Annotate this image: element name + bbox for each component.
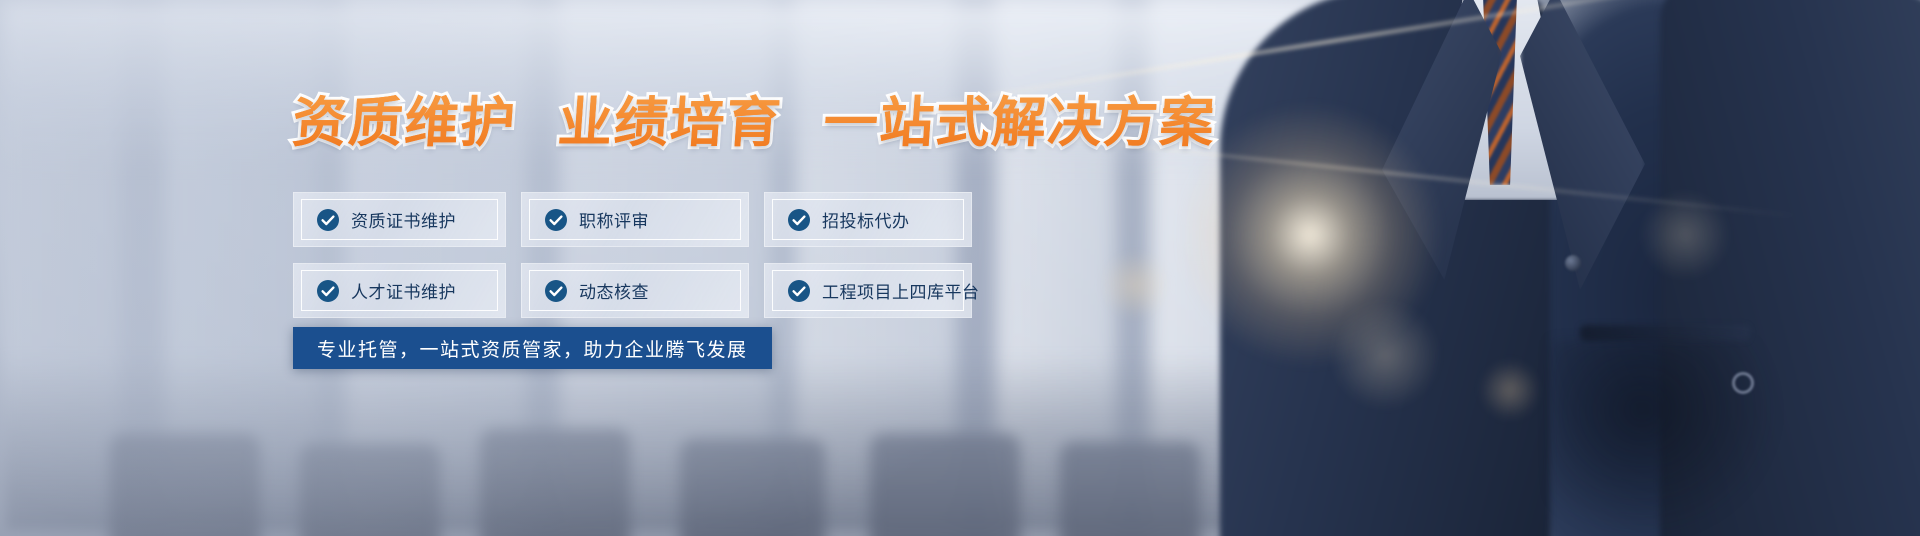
promo-banner: 资质维护 业绩培育 一站式解决方案 资质维护 业绩培育 一站式解决方案 资质证书… (0, 0, 1920, 536)
feature-card-qualification-certificate-maintenance[interactable]: 资质证书维护 (293, 192, 506, 247)
check-circle-icon (316, 279, 340, 303)
check-circle-icon (316, 208, 340, 232)
feature-card-title-evaluation[interactable]: 职称评审 (521, 192, 749, 247)
feature-card-dynamic-verification[interactable]: 动态核查 (521, 263, 749, 318)
check-circle-icon (544, 279, 568, 303)
feature-label: 动态核查 (579, 278, 649, 303)
feature-label: 人才证书维护 (351, 278, 456, 303)
banner-content: 资质维护 业绩培育 一站式解决方案 资质维护 业绩培育 一站式解决方案 资质证书… (0, 0, 1920, 536)
feature-label: 工程项目上四库平台 (822, 278, 980, 303)
check-circle-icon (544, 208, 568, 232)
feature-card-project-four-database-platform[interactable]: 工程项目上四库平台 (764, 263, 972, 318)
feature-card-talent-certificate-maintenance[interactable]: 人才证书维护 (293, 263, 506, 318)
page-title: 资质维护 业绩培育 一站式解决方案 (290, 78, 1219, 157)
check-circle-icon (787, 279, 811, 303)
feature-label: 招投标代办 (822, 207, 910, 232)
feature-label: 资质证书维护 (351, 207, 456, 232)
feature-label: 职称评审 (579, 207, 649, 232)
feature-grid: 资质证书维护 职称评审 (293, 192, 972, 318)
tagline-text: 专业托管，一站式资质管家，助力企业腾飞发展 (317, 335, 748, 362)
feature-card-bidding-agency[interactable]: 招投标代办 (764, 192, 972, 247)
check-circle-icon (787, 208, 811, 232)
tagline-bar: 专业托管，一站式资质管家，助力企业腾飞发展 (293, 327, 772, 369)
